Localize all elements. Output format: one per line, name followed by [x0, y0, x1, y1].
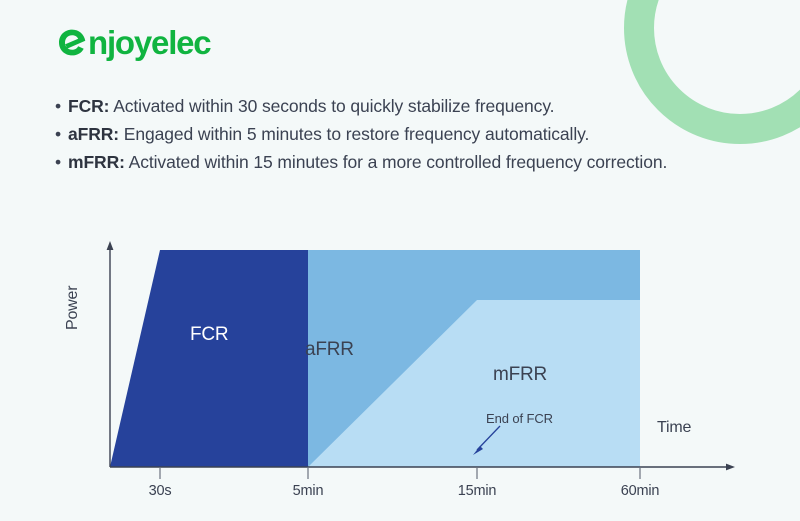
reserve-activation-chart	[0, 0, 800, 521]
bullet-description: Activated within 15 minutes for a more c…	[125, 152, 667, 172]
bullet-marker-icon: •	[55, 92, 68, 120]
chart-svg	[0, 0, 800, 521]
y-axis-label: Power	[64, 286, 82, 330]
bullet-term: FCR:	[68, 96, 109, 116]
area-fcr	[110, 250, 308, 467]
bullet-marker-icon: •	[55, 148, 68, 176]
x-tick-label-30s: 30s	[149, 483, 172, 499]
bullet-text: mFRR: Activated within 15 minutes for a …	[68, 148, 745, 176]
bullet-text: FCR: Activated within 30 seconds to quic…	[68, 92, 745, 120]
x-tick-label-60min: 60min	[621, 483, 660, 499]
bullet-text: aFRR: Engaged within 5 minutes to restor…	[68, 120, 745, 148]
list-item: • FCR: Activated within 30 seconds to qu…	[55, 92, 745, 120]
end-of-fcr-annotation: End of FCR	[486, 411, 553, 426]
y-axis-arrow-icon	[107, 241, 114, 250]
list-item: • aFRR: Engaged within 5 minutes to rest…	[55, 120, 745, 148]
bullet-description: Engaged within 5 minutes to restore freq…	[119, 124, 589, 144]
x-axis-arrow-icon	[726, 464, 735, 471]
x-axis-label: Time	[657, 419, 691, 437]
bullet-list: • FCR: Activated within 30 seconds to qu…	[55, 92, 745, 176]
x-tick-label-5min: 5min	[293, 483, 324, 499]
area-afrr	[110, 250, 640, 467]
list-item: • mFRR: Activated within 15 minutes for …	[55, 148, 745, 176]
series-label-fcr: FCR	[190, 324, 228, 346]
bullet-term: mFRR:	[68, 152, 125, 172]
brand-logo[interactable]: njoyelec	[57, 22, 210, 62]
logo-wordmark: njoyelec	[88, 26, 210, 59]
bullet-marker-icon: •	[55, 120, 68, 148]
bullet-term: aFRR:	[68, 124, 119, 144]
logo-e-mark	[57, 27, 87, 58]
series-label-mfrr: mFRR	[493, 364, 547, 386]
series-label-afrr: aFRR	[305, 339, 354, 361]
end-of-fcr-arrow-line	[477, 426, 500, 450]
end-of-fcr-arrowhead-icon	[473, 446, 483, 455]
x-tick-label-15min: 15min	[458, 483, 497, 499]
bullet-description: Activated within 30 seconds to quickly s…	[109, 96, 554, 116]
poster-canvas: njoyelec • FCR: Activated within 30 seco…	[0, 0, 800, 521]
